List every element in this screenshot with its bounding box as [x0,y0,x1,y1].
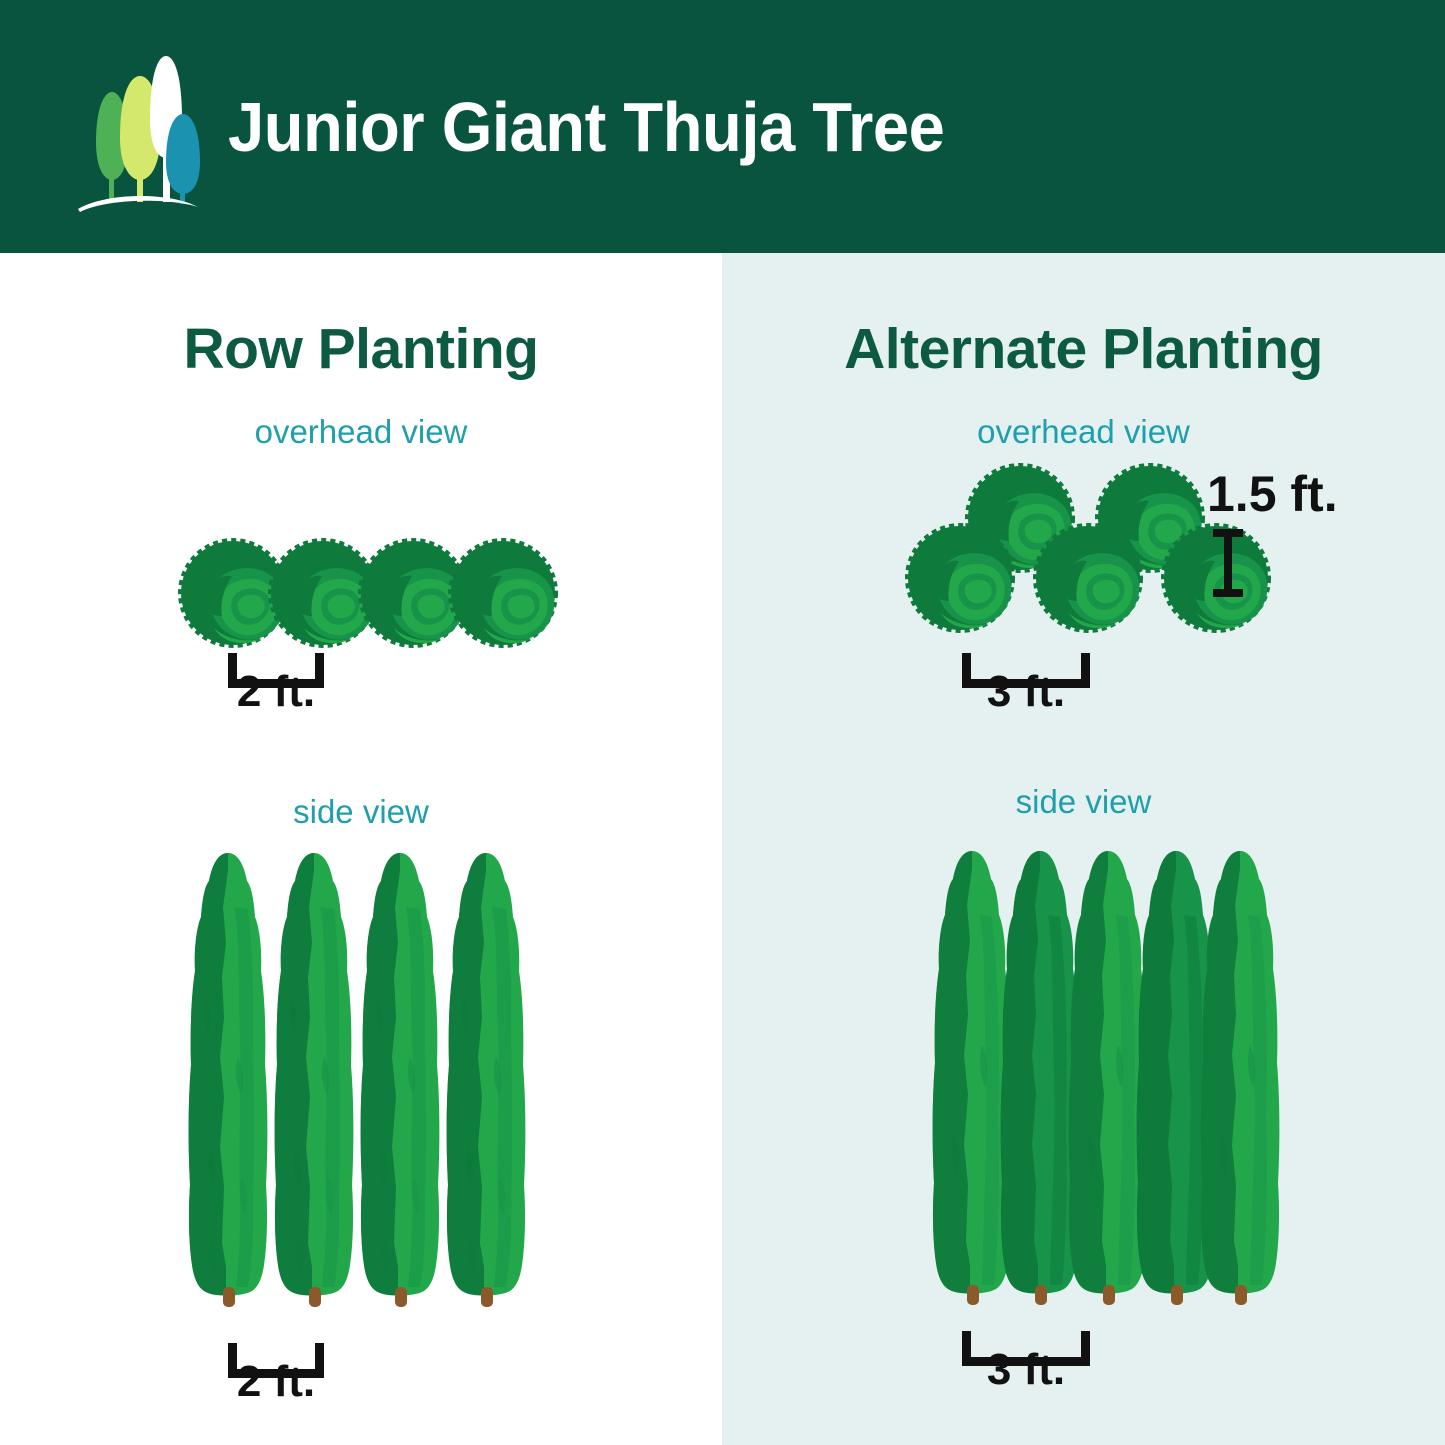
header-banner: Junior Giant Thuja Tree [0,0,1445,253]
alt-row-offset-label: 1.5 ft. [1207,465,1338,523]
alternate-planting-heading: Alternate Planting [722,316,1445,382]
row-overhead-treetops [180,528,560,658]
panel-row-planting: Row Planting overhead view [0,253,722,1445]
alt-side-spacing-bracket: 3 ft. [962,1331,1090,1366]
row-overhead-view-label: overhead view [0,413,722,451]
alt-overhead-spacing-bracket: 3 ft. [962,653,1090,688]
four-trees-logo-icon [74,46,202,212]
row-side-trees [168,847,548,1317]
page-title: Junior Giant Thuja Tree [228,87,944,167]
row-overhead-spacing-label: 2 ft. [228,667,324,717]
row-side-view-label: side view [0,793,722,831]
panel-alternate-planting: Alternate Planting overhead view [722,253,1445,1445]
row-planting-heading: Row Planting [0,316,722,382]
alt-side-spacing-label: 3 ft. [962,1345,1090,1395]
measure-cap-bottom [1213,589,1243,597]
row-side-spacing-bracket: 2 ft. [228,1343,324,1378]
alt-overhead-spacing-label: 3 ft. [962,667,1090,717]
alt-row-offset-measure: 1.5 ft. [1213,529,1243,597]
alt-side-view-label: side view [722,783,1445,821]
row-side-spacing-label: 2 ft. [228,1357,324,1407]
row-overhead-spacing-bracket: 2 ft. [228,653,324,688]
infographic-page: Junior Giant Thuja Tree Row Planting ove… [0,0,1445,1445]
alt-side-trees [912,845,1302,1315]
measure-stem [1224,529,1232,597]
alt-overhead-view-label: overhead view [722,413,1445,451]
